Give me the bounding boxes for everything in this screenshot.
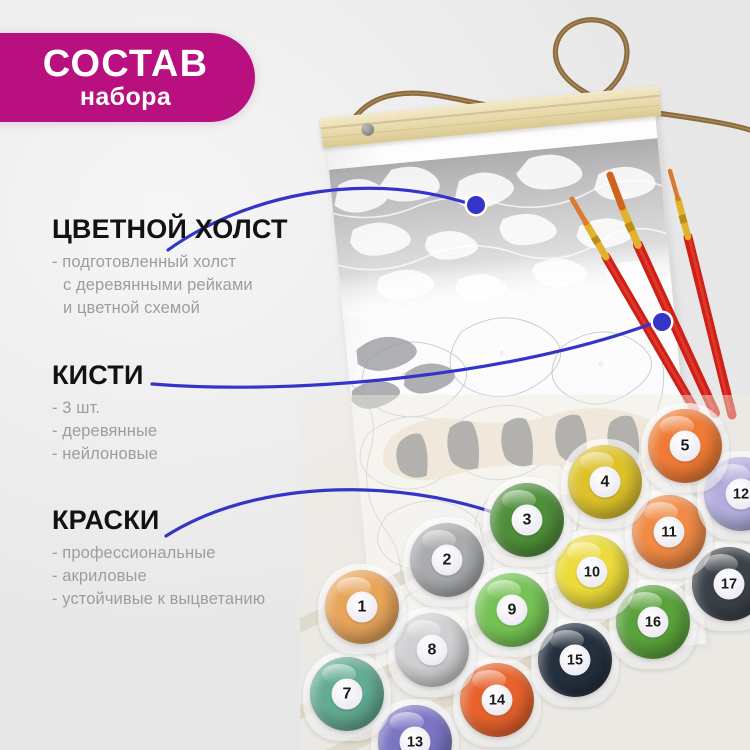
feature-block-canvas: ЦВЕТНОЙ ХОЛСТ - подготовленный холст с д… — [52, 214, 288, 320]
pot-number-label: 9 — [497, 595, 528, 626]
pot-number-label: 10 — [577, 557, 608, 588]
paint-pot: 4 — [568, 445, 642, 519]
pot-number-label: 1 — [347, 592, 378, 623]
pot-number-label: 11 — [654, 517, 685, 548]
list-item: - акриловые — [52, 565, 265, 588]
svg-text:3: 3 — [499, 351, 504, 358]
pot-number-label: 16 — [638, 607, 669, 638]
infographic-stage: 435 892 716 1011 — [0, 0, 750, 750]
badge-title-line2: набора — [80, 84, 171, 110]
pot-number-label: 13 — [400, 727, 431, 750]
pot-number-label: 12 — [726, 479, 750, 510]
composition-badge: СОСТАВ набора — [0, 33, 255, 122]
list-item: - устойчивые к выцветанию — [52, 588, 265, 611]
pot-number-label: 17 — [714, 569, 745, 600]
product-photo: 435 892 716 1011 — [300, 0, 750, 750]
list-item: - 3 шт. — [52, 397, 158, 420]
feature-bullets-paints: - профессиональные - акриловые - устойчи… — [52, 542, 265, 611]
paint-pot: 5 — [648, 409, 722, 483]
feature-bullets-canvas: - подготовленный холст с деревянными рей… — [52, 251, 288, 320]
pot-number-label: 4 — [590, 467, 621, 498]
list-item: - подготовленный холст — [52, 251, 288, 274]
feature-block-paints: КРАСКИ - профессиональные - акриловые - … — [52, 505, 265, 611]
paint-pot: 8 — [395, 613, 469, 687]
feature-title-brushes: КИСТИ — [52, 360, 158, 390]
list-item: - профессиональные — [52, 542, 265, 565]
pot-number-label: 8 — [417, 635, 448, 666]
pot-number-label: 7 — [332, 679, 363, 710]
list-item: - нейлоновые — [52, 443, 158, 466]
paint-pot: 9 — [475, 573, 549, 647]
list-item: с деревянными рейками — [52, 274, 288, 297]
paint-pot-tray: 123457891011121314151617 — [300, 395, 750, 750]
grommet-icon — [361, 122, 375, 136]
paint-pot: 3 — [490, 483, 564, 557]
feature-bullets-brushes: - 3 шт. - деревянные - нейлоновые — [52, 397, 158, 466]
pot-number-label: 15 — [560, 645, 591, 676]
brush-set — [510, 165, 750, 425]
list-item: и цветной схемой — [52, 297, 288, 320]
paint-pot: 1 — [325, 570, 399, 644]
pot-number-label: 14 — [482, 685, 513, 716]
paint-pot: 7 — [310, 657, 384, 731]
badge-title-line1: СОСТАВ — [43, 46, 208, 83]
feature-title-canvas: ЦВЕТНОЙ ХОЛСТ — [52, 214, 288, 244]
feature-block-brushes: КИСТИ - 3 шт. - деревянные - нейлоновые — [52, 360, 158, 466]
feature-title-paints: КРАСКИ — [52, 505, 265, 535]
paint-pot: 2 — [410, 523, 484, 597]
pot-number-label: 2 — [432, 545, 463, 576]
pot-number-label: 5 — [670, 431, 701, 462]
pot-number-label: 3 — [512, 505, 543, 536]
list-item: - деревянные — [52, 420, 158, 443]
